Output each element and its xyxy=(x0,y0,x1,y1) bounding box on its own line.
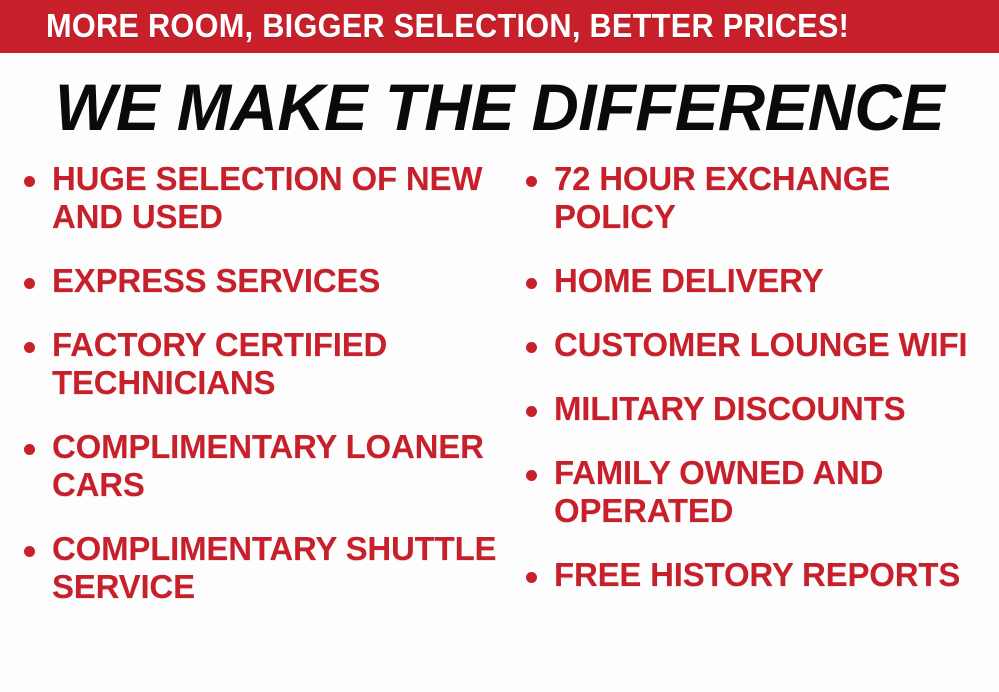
benefit-label: HUGE SELECTION OF NEW AND USED xyxy=(52,160,500,236)
dot-bullet-icon xyxy=(526,406,537,417)
benefit-item: 72 HOUR EXCHANGE POLICY xyxy=(516,160,999,236)
dot-bullet-icon xyxy=(24,546,35,557)
benefits-columns: HUGE SELECTION OF NEW AND USEDEXPRESS SE… xyxy=(0,160,999,692)
benefit-label: EXPRESS SERVICES xyxy=(52,262,500,300)
benefit-label: FACTORY CERTIFIED TECHNICIANS xyxy=(52,326,500,402)
benefit-item: MILITARY DISCOUNTS xyxy=(516,390,999,428)
benefit-label: FREE HISTORY REPORTS xyxy=(554,556,999,594)
benefit-item: EXPRESS SERVICES xyxy=(14,262,500,300)
benefit-label: FAMILY OWNED AND OPERATED xyxy=(554,454,999,530)
benefit-label: CUSTOMER LOUNGE WIFI xyxy=(554,326,999,364)
dot-bullet-icon xyxy=(24,342,35,353)
benefits-column-right: 72 HOUR EXCHANGE POLICYHOME DELIVERYCUST… xyxy=(516,160,999,692)
banner-headline: MORE ROOM, BIGGER SELECTION, BETTER PRIC… xyxy=(46,6,892,46)
dot-bullet-icon xyxy=(526,278,537,289)
dot-bullet-icon xyxy=(526,342,537,353)
benefit-item: CUSTOMER LOUNGE WIFI xyxy=(516,326,999,364)
benefit-item: COMPLIMENTARY SHUTTLE SERVICE xyxy=(14,530,500,606)
benefit-label: MILITARY DISCOUNTS xyxy=(554,390,999,428)
benefit-item: FACTORY CERTIFIED TECHNICIANS xyxy=(14,326,500,402)
benefit-item: HOME DELIVERY xyxy=(516,262,999,300)
dot-bullet-icon xyxy=(526,470,537,481)
dot-bullet-icon xyxy=(24,278,35,289)
benefits-column-left: HUGE SELECTION OF NEW AND USEDEXPRESS SE… xyxy=(14,160,500,692)
top-banner: MORE ROOM, BIGGER SELECTION, BETTER PRIC… xyxy=(0,0,999,53)
promotional-poster: MORE ROOM, BIGGER SELECTION, BETTER PRIC… xyxy=(0,0,999,692)
dot-bullet-icon xyxy=(526,176,537,187)
dot-bullet-icon xyxy=(526,572,537,583)
benefit-label: COMPLIMENTARY SHUTTLE SERVICE xyxy=(52,530,500,606)
benefit-item: FAMILY OWNED AND OPERATED xyxy=(516,454,999,530)
dot-bullet-icon xyxy=(24,176,35,187)
dot-bullet-icon xyxy=(24,444,35,455)
benefit-label: COMPLIMENTARY LOANER CARS xyxy=(52,428,500,504)
benefit-item: HUGE SELECTION OF NEW AND USED xyxy=(14,160,500,236)
page-title: WE MAKE THE DIFFERENCE xyxy=(5,72,994,142)
benefit-item: COMPLIMENTARY LOANER CARS xyxy=(14,428,500,504)
benefit-label: HOME DELIVERY xyxy=(554,262,999,300)
benefit-label: 72 HOUR EXCHANGE POLICY xyxy=(554,160,999,236)
benefit-item: FREE HISTORY REPORTS xyxy=(516,556,999,594)
